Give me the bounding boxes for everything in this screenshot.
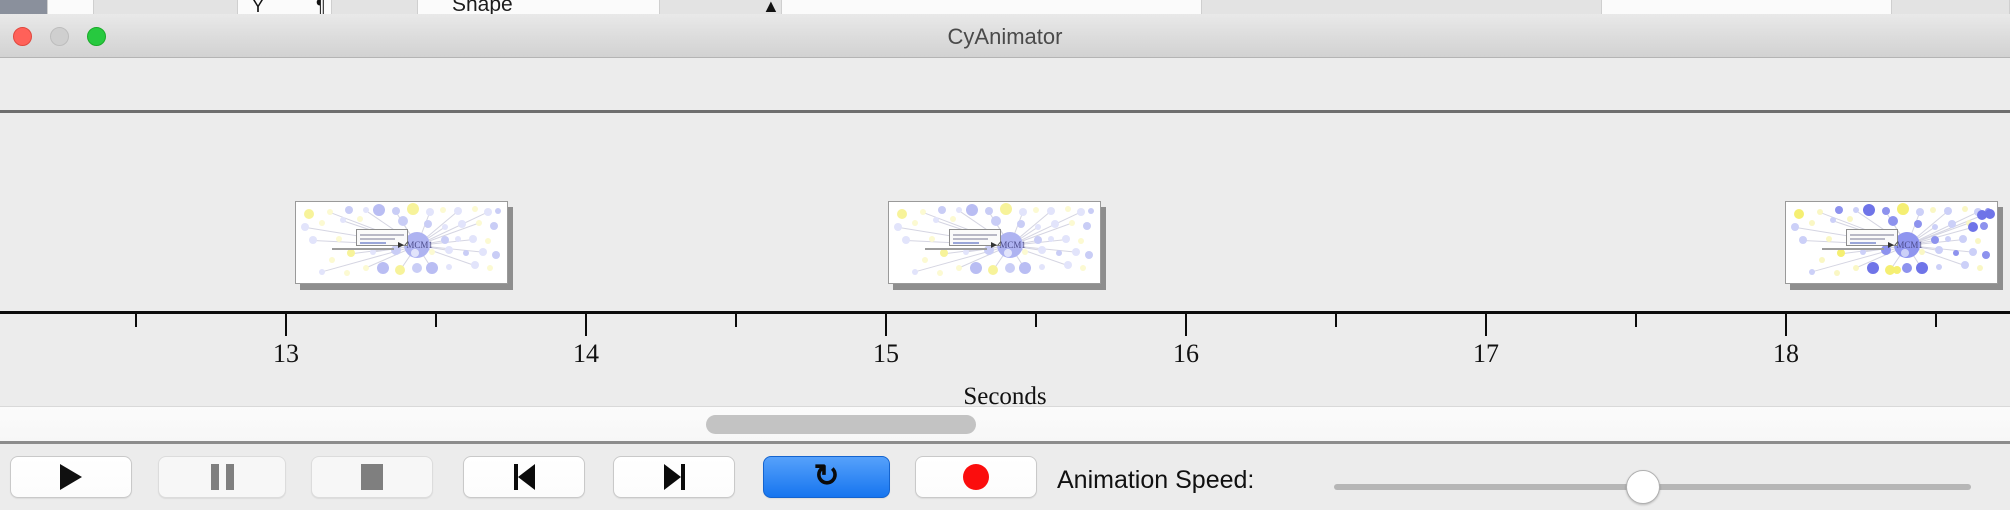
network-node [1914,220,1922,228]
network-node [1882,207,1890,215]
network-node [902,236,910,244]
network-node [1022,249,1028,255]
network-node [1794,209,1804,219]
stop-icon [361,464,383,490]
network-node [1932,224,1938,230]
horizontal-scrollbar[interactable] [0,406,2010,444]
network-node [1977,265,1983,271]
network-node [988,265,998,275]
network-node [966,204,978,216]
bg-segment [1892,0,2010,14]
network-node [463,250,469,256]
network-node [1069,220,1075,226]
ruler-tick-minor [735,314,737,327]
network-caption [925,248,987,250]
skip-back-icon [514,464,535,490]
network-node [1817,209,1823,215]
bg-window-label: Shape [452,0,513,14]
network-node [442,224,448,230]
network-hub-label: MCM1 [999,240,1026,250]
network-node [1897,203,1909,215]
network-node [492,251,500,259]
frame-network-preview: MCM1 [888,201,1101,284]
network-node [1961,261,1969,269]
network-node [490,222,498,230]
network-node [392,207,400,215]
network-node [424,220,432,228]
network-node [1077,208,1085,216]
tooltip-text-line [360,234,404,236]
network-node [469,235,477,243]
record-button[interactable] [915,456,1037,498]
network-node [1819,257,1825,263]
title-bar: CyAnimator [0,14,2010,58]
network-node [329,257,335,263]
network-node [1056,250,1062,256]
frame-network-preview: MCM1 [295,201,508,284]
network-node [1085,251,1093,259]
next-frame-button[interactable] [613,456,735,498]
network-node [455,236,461,242]
tooltip-arrow-icon [398,242,404,248]
ruler-tick-major [1185,314,1187,336]
network-node [1867,262,1879,274]
network-node [471,261,479,269]
pause-button[interactable] [158,456,286,498]
network-node [479,248,487,256]
bg-segment [1202,0,1602,14]
stop-button[interactable] [311,456,433,498]
network-node [1968,222,1978,232]
network-node [1959,235,1967,243]
tooltip-text-line [953,242,979,244]
network-node [1935,246,1943,254]
network-node [1078,238,1084,244]
network-node [1033,207,1039,213]
network-node [1863,204,1875,216]
network-node [897,209,907,219]
network-node [1035,224,1041,230]
network-node [407,203,419,215]
network-node [1000,203,1012,215]
ruler-tick-minor [435,314,437,327]
network-node [933,217,939,223]
network-node [1083,222,1091,230]
toolbar: ✚ Clear All Frames [0,59,2010,112]
ruler-tick-label: 18 [1773,339,1799,369]
tooltip-text-line [953,234,997,236]
network-caption [1822,248,1884,250]
network-node [1980,222,1988,230]
bg-segment [1602,0,1892,14]
network-node [1019,262,1031,274]
tooltip-arrow-icon [1888,242,1894,248]
network-node [1945,236,1951,242]
network-node [301,223,309,231]
network-node [440,207,446,213]
network-node [336,236,342,242]
network-node [938,206,946,214]
play-icon [60,464,82,490]
network-node [426,262,438,274]
animation-speed-label: Animation Speed: [1057,466,1254,495]
frame-thumbnail[interactable]: MCM1 [1785,201,2001,286]
network-node [357,216,363,222]
network-caption [332,248,394,250]
ruler-tick-minor [1035,314,1037,327]
network-node [912,269,918,275]
network-node [429,249,435,255]
tooltip-text-line [953,238,988,240]
network-node [373,204,385,216]
network-node [487,265,493,271]
network-node [327,209,333,215]
network-node [1047,207,1055,215]
network-node [309,236,317,244]
frame-network-preview: MCM1 [1785,201,1998,284]
network-node [476,220,482,226]
network-node [1953,250,1959,256]
network-node [485,238,491,244]
animation-speed-slider-thumb[interactable] [1626,470,1660,504]
network-node [1931,236,1939,244]
previous-frame-button[interactable] [463,456,585,498]
ruler-tick-major [1785,314,1787,336]
bg-segment [0,0,48,14]
network-node [445,246,453,254]
scrollbar-track[interactable] [0,407,2010,441]
network-node [1930,207,1936,213]
network-node [1065,206,1071,212]
bg-segment [94,0,238,14]
network-node [484,208,492,216]
network-node [1893,266,1901,274]
network-node [970,262,982,274]
ruler-tick-major [1485,314,1487,336]
ruler-tick-label: 16 [1173,339,1199,369]
network-node [1919,249,1925,255]
network-node [985,207,993,215]
network-node [950,216,956,222]
network-node [1034,236,1042,244]
network-node [304,209,314,219]
ruler-tick-label: 15 [873,339,899,369]
network-hub-label: MCM1 [406,240,433,250]
network-node [441,236,449,244]
ruler-tick-label: 14 [573,339,599,369]
network-node [1837,249,1845,257]
network-node [340,217,346,223]
network-node [1834,270,1840,276]
cyanimator-window: Y ¶ ▲ Shape CyAnimator ✚ Clear All [0,0,2010,510]
network-node [412,263,422,273]
tooltip-text-line [360,238,395,240]
tooltip-text-line [1850,234,1894,236]
network-node [1975,238,1981,244]
time-ruler[interactable]: 12131415161718 Seconds [0,311,2010,406]
frame-timeline[interactable]: MCM1MCM1MCM1 [0,113,2010,311]
network-node [345,206,353,214]
network-node [1853,265,1859,271]
network-node [1916,208,1924,216]
network-node [1888,216,1898,226]
playback-controls: ↻ Animation Speed: [0,444,2010,510]
tooltip-text-line [1850,242,1876,244]
ruler-tick-label: 17 [1473,339,1499,369]
network-node [398,216,408,226]
network-node [454,207,462,215]
network-node [1826,236,1832,242]
record-icon [963,464,989,490]
network-node [920,209,926,215]
play-button[interactable] [10,456,132,498]
frame-thumbnail[interactable]: MCM1 [888,201,1104,286]
network-node [991,216,1001,226]
network-node [363,265,369,271]
network-node [894,223,902,231]
network-node [1982,251,1990,259]
tooltip-text-line [1850,238,1885,240]
ruler-tick-minor [135,314,137,327]
ruler-tick-label: 13 [273,339,299,369]
ruler-baseline [0,311,2010,314]
network-node [1936,264,1942,270]
network-node [319,220,325,226]
network-node [956,265,962,271]
network-node [446,264,452,270]
network-node [1048,236,1054,242]
network-node [1809,220,1815,226]
network-node [1791,223,1799,231]
network-node [929,236,935,242]
frame-thumbnail[interactable]: MCM1 [295,201,511,286]
network-node [347,249,355,257]
network-node [1830,217,1836,223]
loop-icon: ↻ [814,460,840,491]
network-node [377,262,389,274]
network-node [1088,208,1094,214]
network-node [940,249,948,257]
network-node [472,206,478,212]
network-node [937,270,943,276]
network-node [1902,263,1912,273]
bg-segment [48,0,94,14]
network-node [395,265,405,275]
scrollbar-thumb[interactable] [706,415,976,434]
network-node [1944,207,1952,215]
network-node [1847,216,1853,222]
skip-forward-icon [664,464,685,490]
network-node [495,208,501,214]
network-node [344,270,350,276]
ruler-tick-major [585,314,587,336]
network-node [1039,264,1045,270]
network-node [1064,261,1072,269]
network-node [1019,208,1027,216]
bg-segment [782,0,1202,14]
network-node [319,269,325,275]
background-window-strip: Y ¶ ▲ Shape [0,0,2010,14]
window-title: CyAnimator [0,24,2010,50]
bg-segment [332,0,418,14]
network-node [912,220,918,226]
pause-icon [211,464,234,490]
network-node [1038,246,1046,254]
network-node [1080,265,1086,271]
network-node [922,257,928,263]
network-node [1835,206,1843,214]
network-node [1962,206,1968,212]
loop-button[interactable]: ↻ [763,456,890,498]
network-node [1799,236,1807,244]
ruler-tick-minor [1635,314,1637,327]
ruler-tick-major [285,314,287,336]
network-node [1072,248,1080,256]
network-node [1985,209,1995,219]
network-node [1062,235,1070,243]
network-node [426,208,434,216]
tooltip-arrow-icon [991,242,997,248]
ruler-tick-minor [1935,314,1937,327]
network-node [1969,248,1977,256]
network-hub-label: MCM1 [1896,240,1923,250]
network-node [1916,262,1928,274]
network-node [1017,220,1025,228]
network-node [1005,263,1015,273]
tooltip-text-line [360,242,386,244]
ruler-tick-major [885,314,887,336]
ruler-tick-minor [1335,314,1337,327]
network-node [1809,269,1815,275]
